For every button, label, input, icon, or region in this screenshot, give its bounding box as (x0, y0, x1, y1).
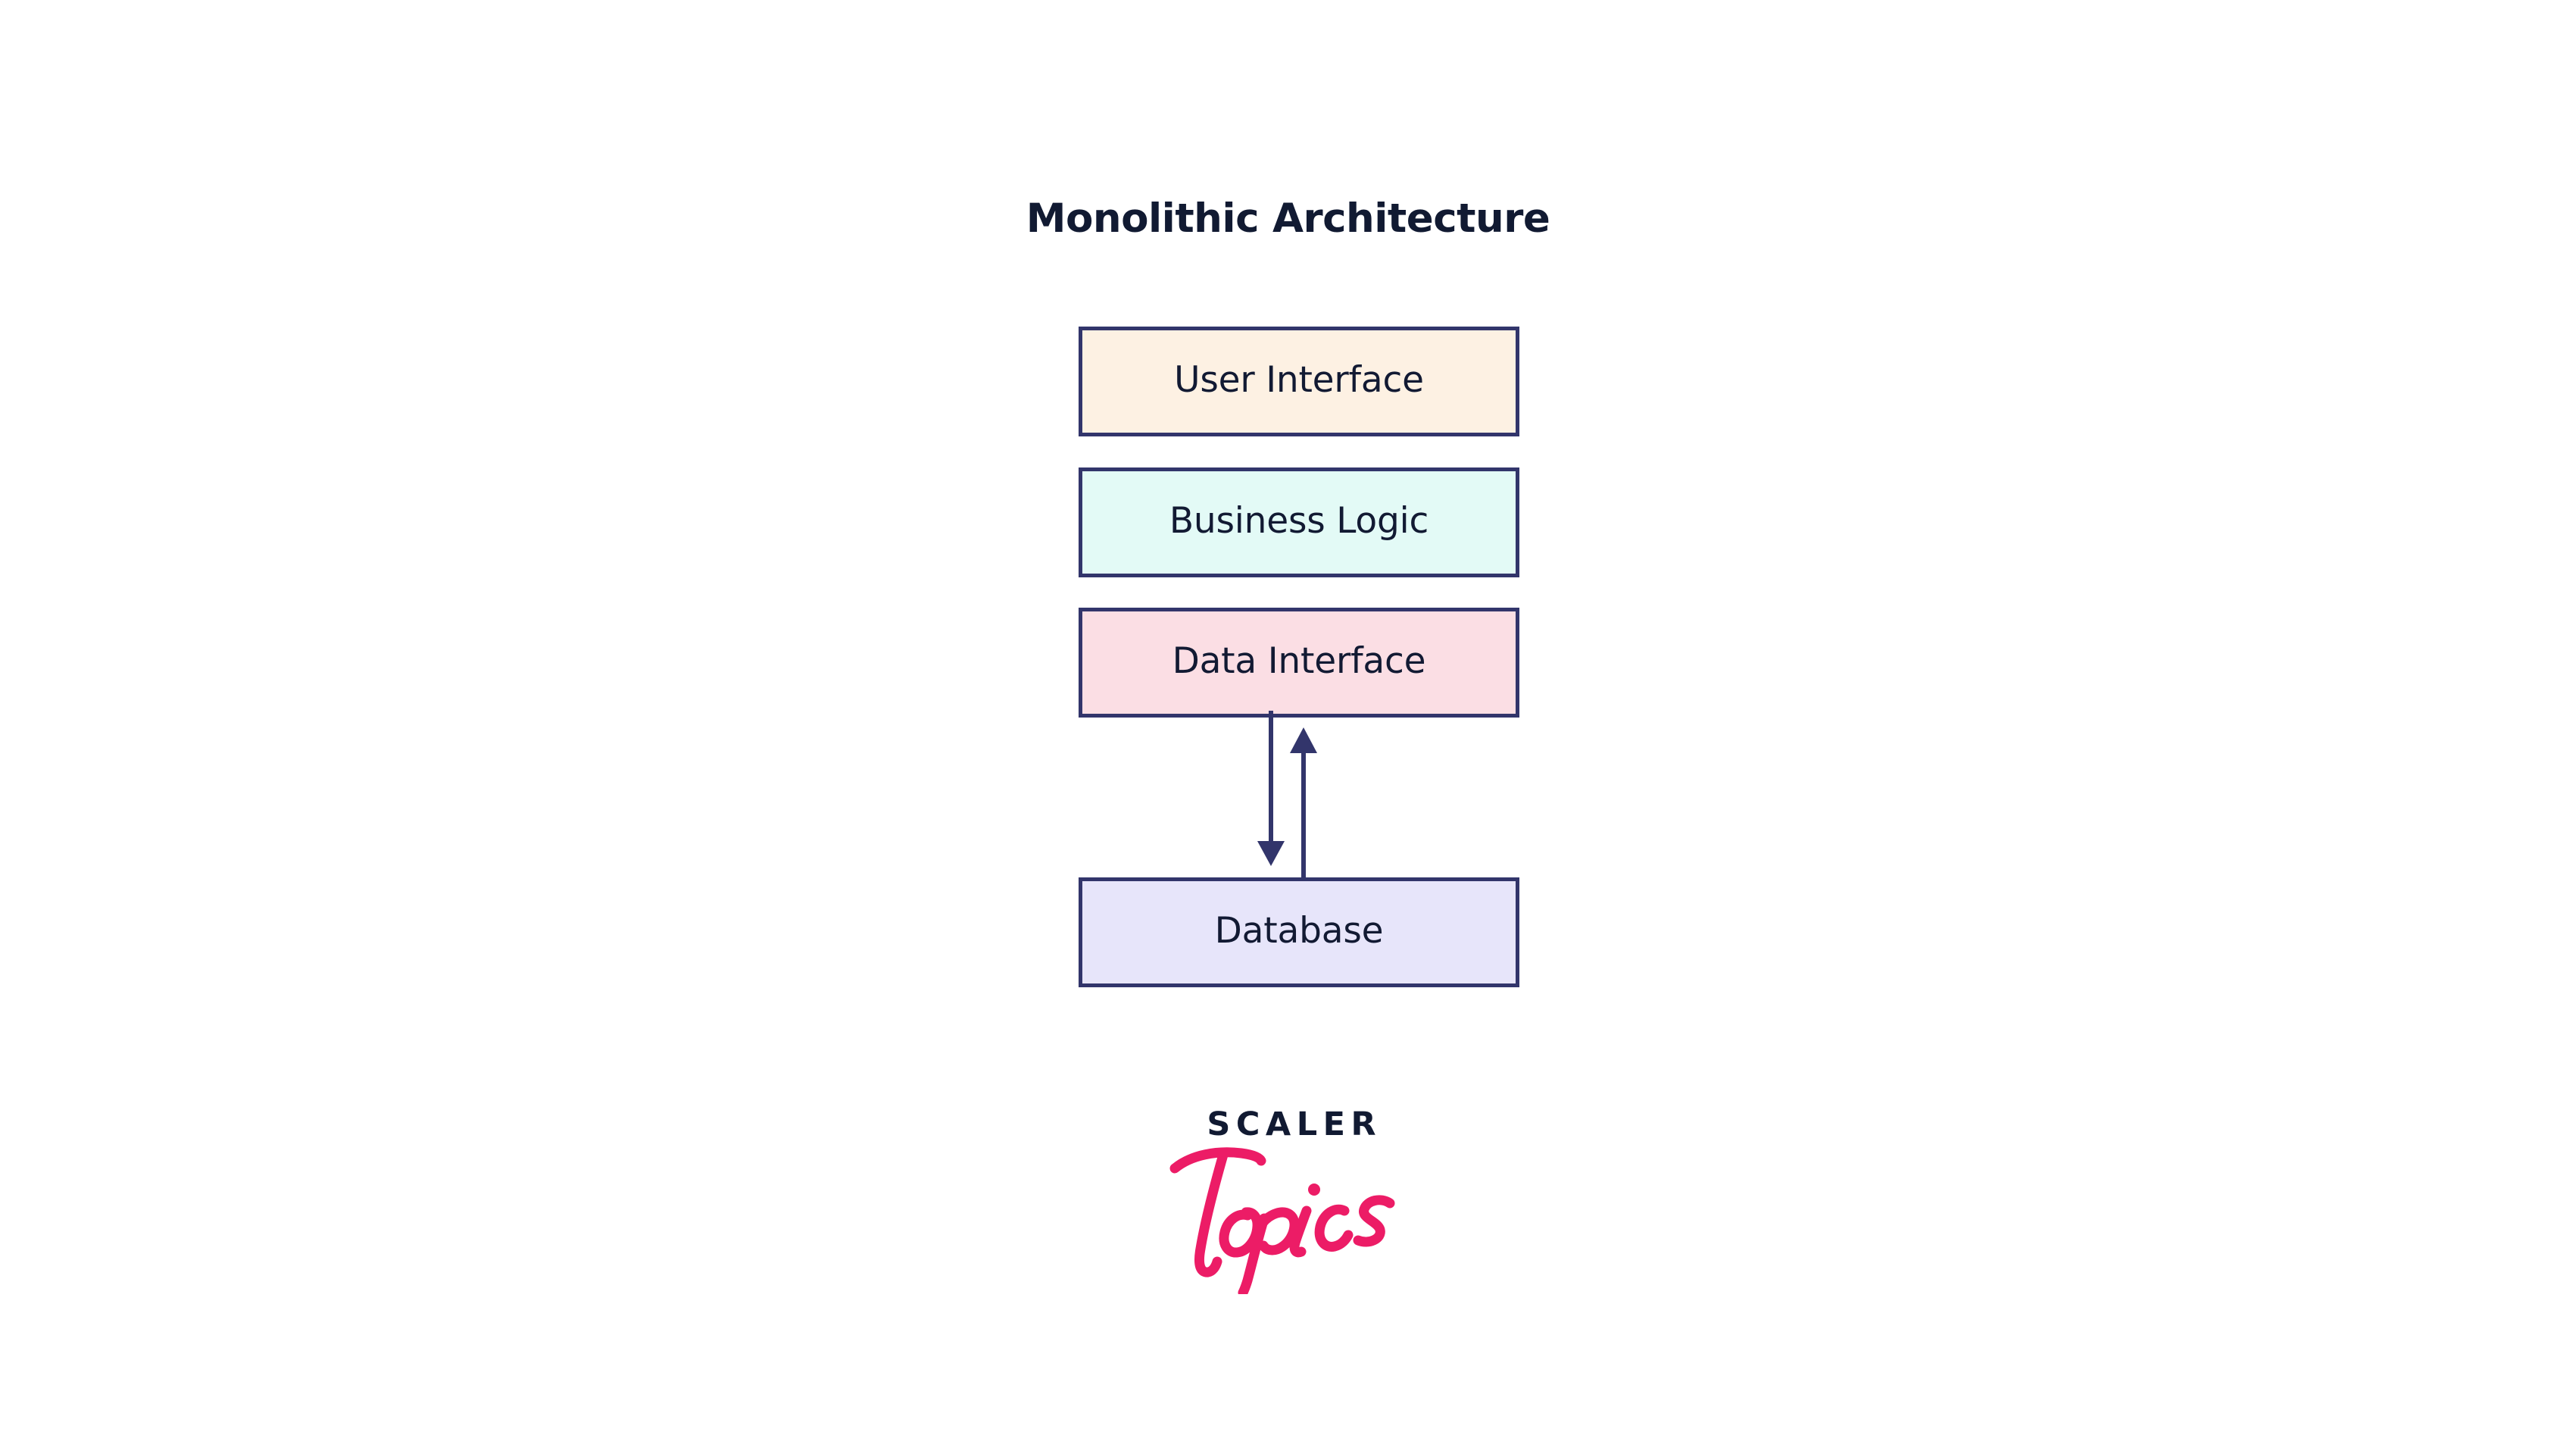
arrow-down-data-interface-to-database (1257, 711, 1285, 866)
connector-group (1227, 711, 1379, 885)
arrow-up-head (1290, 727, 1317, 753)
layer-box-user-interface[interactable]: User Interface (1079, 327, 1519, 436)
arrow-down-head (1257, 841, 1285, 866)
layer-box-business-logic[interactable]: Business Logic (1079, 467, 1519, 577)
layer-box-data-interface[interactable]: Data Interface (1079, 608, 1519, 718)
brand-wordmark-scaler: SCALER (1170, 1108, 1413, 1142)
diagram-canvas: Monolithic Architecture User Interface B… (0, 0, 2576, 1429)
layer-label-data-interface: Data Interface (1172, 643, 1426, 679)
layer-label-user-interface: User Interface (1174, 362, 1424, 398)
brand-logo: SCALER (1170, 1108, 1413, 1305)
layer-label-business-logic: Business Logic (1169, 503, 1429, 539)
arrow-up-database-to-data-interface (1290, 727, 1317, 885)
layer-label-database: Database (1215, 913, 1384, 949)
layer-box-database[interactable]: Database (1079, 877, 1519, 987)
brand-script-topics (1169, 1143, 1419, 1294)
page-title: Monolithic Architecture (0, 195, 2576, 242)
